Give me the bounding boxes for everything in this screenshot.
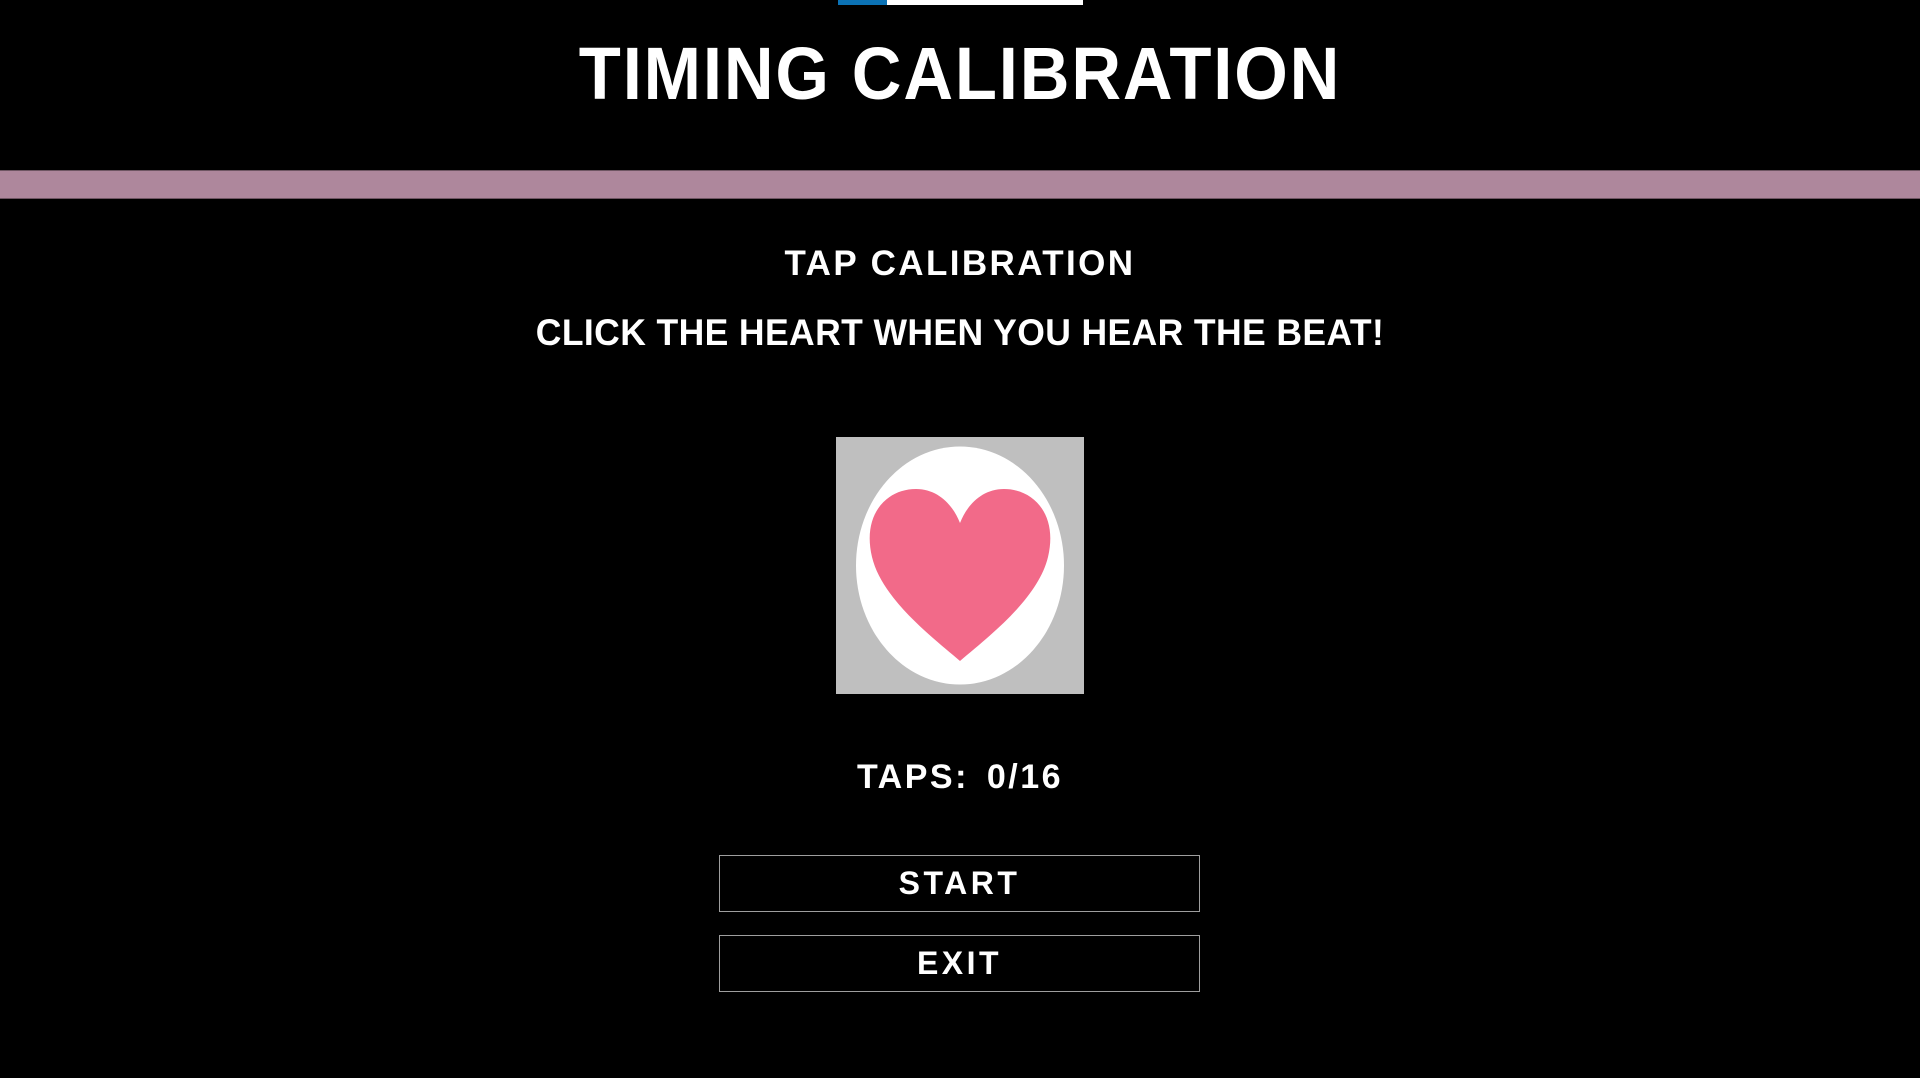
loading-progress-fill [838,0,887,5]
taps-counter: TAPS: 0/16 [0,757,1920,797]
exit-button[interactable]: EXIT [719,935,1200,992]
heart-tap-button[interactable] [836,437,1084,694]
taps-counter-value: 0/16 [987,758,1063,796]
start-button[interactable]: START [719,855,1200,912]
divider-band [0,170,1920,199]
taps-counter-label: TAPS: [857,758,969,796]
section-heading: TAP CALIBRATION [0,243,1920,285]
loading-progress-bar [838,0,1083,5]
heart-icon [836,437,1084,694]
instruction-text: CLICK THE HEART WHEN YOU HEAR THE BEAT! [38,311,1881,355]
page-title: TIMING CALIBRATION [67,34,1853,114]
